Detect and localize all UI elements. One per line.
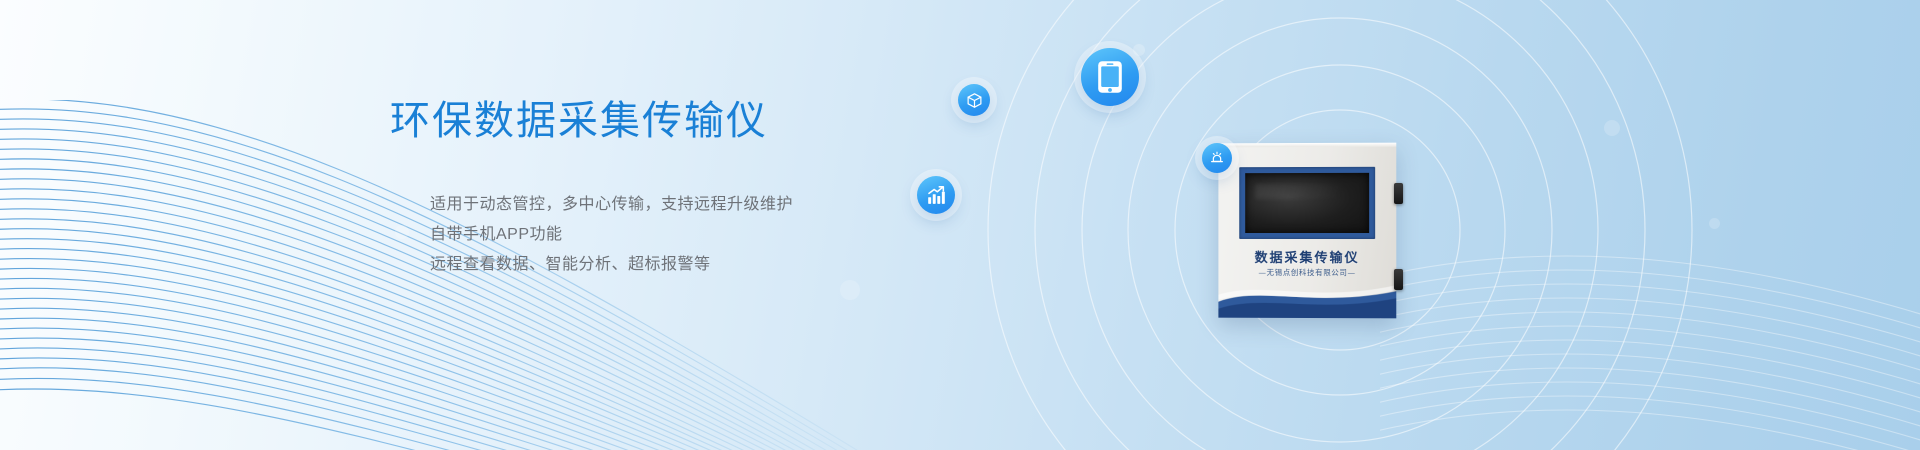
product-device-image: 数据采集传输仪 —无锡点创科技有限公司— [1218, 143, 1396, 318]
device-top-edge [1218, 143, 1396, 148]
feature-list: 适用于动态管控，多中心传输，支持远程升级维护 自带手机APP功能 远程查看数据、… [390, 190, 910, 280]
bokeh-dot [1133, 44, 1145, 56]
device-footer-wave [1218, 278, 1396, 319]
smartphone-icon[interactable] [1081, 48, 1139, 106]
bokeh-dot [1604, 120, 1620, 136]
bar-chart-arrow-icon[interactable] [917, 176, 955, 214]
decorative-hatch-lines [1380, 200, 1920, 450]
alarm-siren-icon[interactable] [1202, 143, 1232, 173]
feature-item-3: 远程查看数据、智能分析、超标报警等 [430, 250, 910, 280]
product-banner: 环保数据采集传输仪 适用于动态管控，多中心传输，支持远程升级维护 自带手机APP… [0, 0, 1920, 450]
device-screen [1245, 173, 1369, 233]
device-label-title: 数据采集传输仪 [1218, 247, 1396, 266]
feature-item-2: 自带手机APP功能 [430, 220, 910, 250]
cube-icon[interactable] [958, 84, 990, 116]
bokeh-dot [840, 280, 860, 300]
page-title: 环保数据采集传输仪 [390, 96, 910, 146]
device-hinge-top [1394, 183, 1403, 204]
device-enclosure: 数据采集传输仪 —无锡点创科技有限公司— [1218, 143, 1396, 319]
feature-item-1: 适用于动态管控，多中心传输，支持远程升级维护 [430, 190, 910, 220]
device-screen-bezel [1239, 167, 1375, 239]
banner-copy: 环保数据采集传输仪 适用于动态管控，多中心传输，支持远程升级维护 自带手机APP… [390, 96, 910, 280]
device-hinge-bottom [1394, 269, 1403, 290]
device-label-company: —无锡点创科技有限公司— [1218, 267, 1396, 278]
bokeh-dot [1709, 218, 1720, 229]
